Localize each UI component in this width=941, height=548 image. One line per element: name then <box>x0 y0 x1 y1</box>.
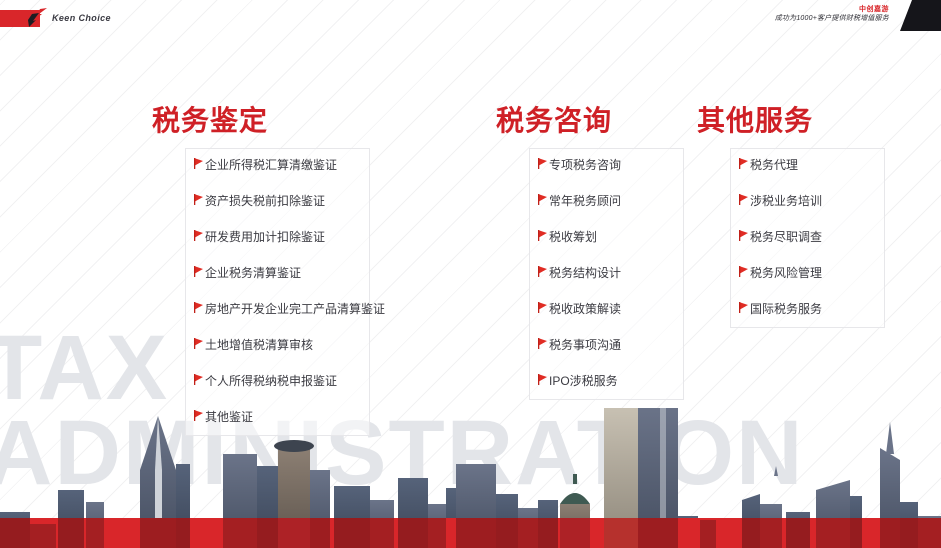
list-item-label: 资产损失税前扣除鉴证 <box>205 195 325 207</box>
list-item[interactable]: 房地产开发企业完工产品清算鉴证 <box>194 303 357 315</box>
red-flag-bullet-icon <box>194 337 203 349</box>
list-item-label: 专项税务咨询 <box>549 159 621 171</box>
column-title: 其他服务 <box>697 99 887 139</box>
list-item-label: 企业所得税汇算清缴鉴证 <box>205 159 337 171</box>
list-item[interactable]: 税收筹划 <box>538 231 671 243</box>
red-flag-bullet-icon <box>739 157 748 169</box>
logo-text: Keen Choice <box>52 13 111 23</box>
list-item[interactable]: 研发费用加计扣除鉴证 <box>194 231 357 243</box>
column-title: 税务咨询 <box>496 99 686 139</box>
service-column-tax-verification: 税务鉴定 企业所得税汇算清缴鉴证 资产损失税前扣除鉴证 研发费用加计扣除鉴证 企… <box>152 99 367 436</box>
list-item[interactable]: IPO涉税服务 <box>538 375 671 387</box>
service-column-tax-consulting: 税务咨询 专项税务咨询 常年税务顾问 税收筹划 税务结构设计 税收政策解读 <box>496 99 686 400</box>
list-item[interactable]: 土地增值税清算审核 <box>194 339 357 351</box>
header-tagline: 中创嘉游 成功为1000+客户提供财税增值服务 <box>775 5 889 24</box>
list-item[interactable]: 专项税务咨询 <box>538 159 671 171</box>
red-flag-bullet-icon <box>538 157 547 169</box>
red-flag-bullet-icon <box>194 229 203 241</box>
service-columns: 税务鉴定 企业所得税汇算清缴鉴证 资产损失税前扣除鉴证 研发费用加计扣除鉴证 企… <box>0 0 941 548</box>
list-item-label: 个人所得税纳税申报鉴证 <box>205 375 337 387</box>
service-column-other-services: 其他服务 税务代理 涉税业务培训 税务尽职调查 税务风险管理 国际税务服务 <box>697 99 887 328</box>
brand-logo[interactable]: Keen Choice <box>0 8 111 28</box>
list-item-label: 税务风险管理 <box>750 267 822 279</box>
red-flag-bullet-icon <box>538 301 547 313</box>
list-item-label: 其他鉴证 <box>205 411 253 423</box>
list-item-label: 税收政策解读 <box>549 303 621 315</box>
list-item[interactable]: 资产损失税前扣除鉴证 <box>194 195 357 207</box>
list-item[interactable]: 税务尽职调查 <box>739 231 872 243</box>
list-item-label: 涉税业务培训 <box>750 195 822 207</box>
list-item[interactable]: 税收政策解读 <box>538 303 671 315</box>
red-flag-bullet-icon <box>194 409 203 421</box>
red-flag-bullet-icon <box>739 229 748 241</box>
red-flag-bullet-icon <box>538 193 547 205</box>
red-flag-bullet-icon <box>194 265 203 277</box>
tagline-primary: 中创嘉游 <box>775 5 889 14</box>
list-item-label: 研发费用加计扣除鉴证 <box>205 231 325 243</box>
list-item[interactable]: 税务风险管理 <box>739 267 872 279</box>
red-flag-bullet-icon <box>538 229 547 241</box>
service-list: 专项税务咨询 常年税务顾问 税收筹划 税务结构设计 税收政策解读 税务事项沟通 <box>529 148 684 400</box>
list-item-label: 税务事项沟通 <box>549 339 621 351</box>
header-bar: Keen Choice 中创嘉游 成功为1000+客户提供财税增值服务 <box>0 0 941 31</box>
list-item-label: 企业税务清算鉴证 <box>205 267 301 279</box>
list-item[interactable]: 税务代理 <box>739 159 872 171</box>
list-item[interactable]: 企业所得税汇算清缴鉴证 <box>194 159 357 171</box>
red-flag-bullet-icon <box>194 301 203 313</box>
service-list: 企业所得税汇算清缴鉴证 资产损失税前扣除鉴证 研发费用加计扣除鉴证 企业税务清算… <box>185 148 370 436</box>
service-list: 税务代理 涉税业务培训 税务尽职调查 税务风险管理 国际税务服务 <box>730 148 885 328</box>
red-flag-bullet-icon <box>194 373 203 385</box>
red-flag-bullet-icon <box>538 337 547 349</box>
list-item[interactable]: 税务事项沟通 <box>538 339 671 351</box>
list-item-label: 房地产开发企业完工产品清算鉴证 <box>205 303 385 315</box>
list-item[interactable]: 常年税务顾问 <box>538 195 671 207</box>
red-flag-bullet-icon <box>194 157 203 169</box>
list-item[interactable]: 其他鉴证 <box>194 411 357 423</box>
red-flag-bullet-icon <box>739 193 748 205</box>
list-item-label: 常年税务顾问 <box>549 195 621 207</box>
red-flag-bullet-icon <box>538 373 547 385</box>
list-item-label: 税务尽职调查 <box>750 231 822 243</box>
tagline-secondary: 成功为1000+客户提供财税增值服务 <box>775 14 889 24</box>
list-item[interactable]: 税务结构设计 <box>538 267 671 279</box>
red-flag-bullet-icon <box>739 301 748 313</box>
list-item-label: 税务代理 <box>750 159 798 171</box>
list-item-label: 税收筹划 <box>549 231 597 243</box>
red-flag-bullet-icon <box>538 265 547 277</box>
red-flag-bullet-icon <box>194 193 203 205</box>
list-item[interactable]: 企业税务清算鉴证 <box>194 267 357 279</box>
list-item-label: 税务结构设计 <box>549 267 621 279</box>
header-corner-accent <box>891 0 941 31</box>
red-flag-bullet-icon <box>739 265 748 277</box>
list-item-label: 国际税务服务 <box>750 303 822 315</box>
eagle-logo-mark-icon <box>26 8 48 28</box>
list-item[interactable]: 涉税业务培训 <box>739 195 872 207</box>
column-title: 税务鉴定 <box>152 99 367 139</box>
list-item-label: IPO涉税服务 <box>549 375 618 387</box>
list-item[interactable]: 国际税务服务 <box>739 303 872 315</box>
list-item[interactable]: 个人所得税纳税申报鉴证 <box>194 375 357 387</box>
list-item-label: 土地增值税清算审核 <box>205 339 313 351</box>
